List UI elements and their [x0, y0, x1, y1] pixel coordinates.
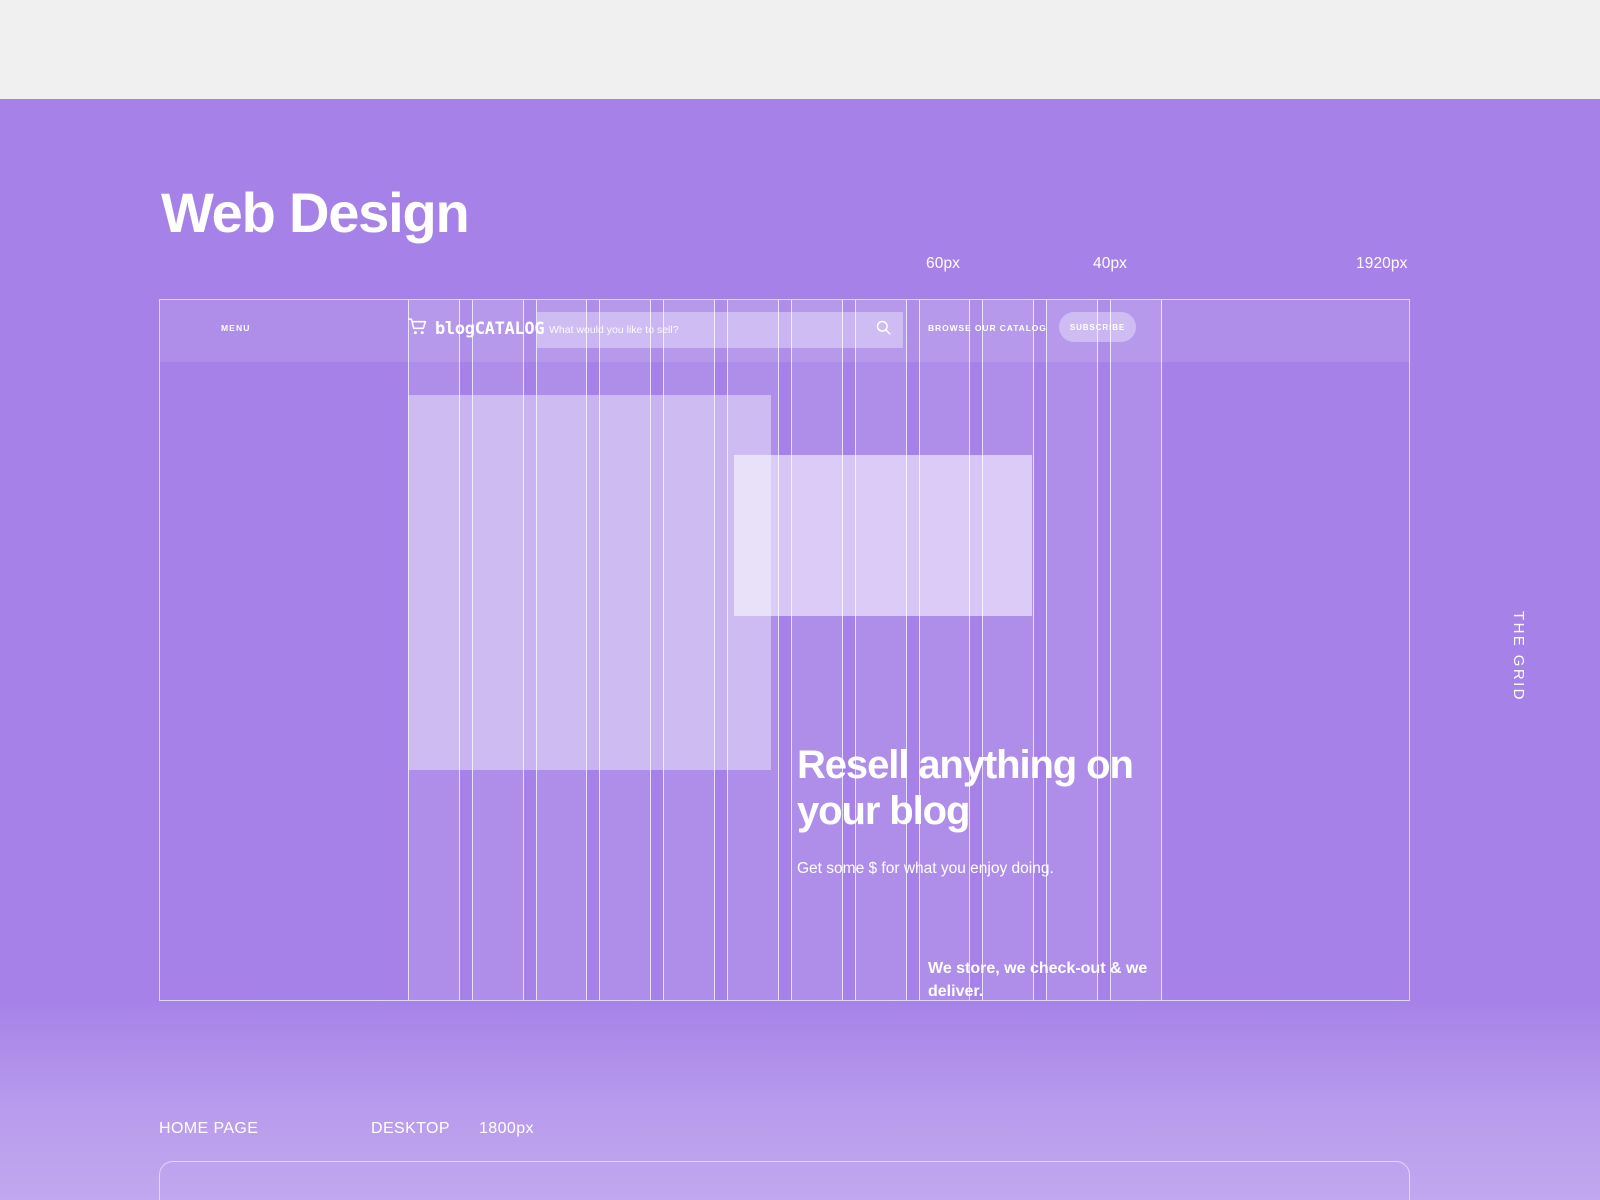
hero-note: We store, we check-out & we deliver.	[928, 958, 1158, 1001]
purple-canvas: Web Design 60px 40px 1920px THE GRID	[0, 99, 1600, 1200]
grid-gutter	[587, 300, 599, 1001]
grid-gutter	[460, 300, 472, 1001]
search-icon[interactable]	[876, 320, 891, 340]
artboard-frame: MENU blogCATALOG What would you like to …	[159, 299, 1410, 1001]
grid-column	[599, 300, 651, 1001]
footer-page-name: HOME PAGE	[159, 1120, 371, 1138]
grid-column	[536, 300, 588, 1001]
footer-meta: HOME PAGE DESKTOP 1800px	[159, 1120, 534, 1138]
grid-column	[855, 300, 907, 1001]
shopping-cart-icon	[408, 318, 428, 340]
hero-headline: Resell anything on your blog	[797, 742, 1157, 835]
search-placeholder: What would you like to sell?	[549, 324, 876, 336]
footer-device: DESKTOP	[371, 1120, 479, 1138]
grid-gutter	[715, 300, 727, 1001]
subscribe-button-label: SUBSCRIBE	[1070, 323, 1125, 332]
grid-gutter	[907, 300, 919, 1001]
grid-gutter	[1034, 300, 1046, 1001]
measure-label-canvas-width: 1920px	[1356, 255, 1407, 273]
next-artboard-card	[159, 1161, 1410, 1200]
grid-column	[663, 300, 715, 1001]
grid-column	[791, 300, 843, 1001]
subscribe-button[interactable]: SUBSCRIBE	[1059, 312, 1136, 342]
measure-label-outer-gutter: 60px	[926, 255, 960, 273]
presentation-stage: Web Design 60px 40px 1920px THE GRID	[0, 0, 1600, 1200]
grid-gutter	[843, 300, 855, 1001]
grid-column	[1046, 300, 1098, 1001]
grid-column	[919, 300, 971, 1001]
grid-gutter	[1098, 300, 1110, 1001]
site-logo[interactable]: blogCATALOG	[408, 318, 544, 340]
grid-column	[1110, 300, 1162, 1001]
search-input[interactable]: What would you like to sell?	[537, 312, 903, 348]
grid-gutter	[779, 300, 791, 1001]
footer-width: 1800px	[479, 1120, 534, 1138]
nav-browse-catalog-link[interactable]: BROWSE OUR CATALOG	[928, 323, 1047, 333]
logo-text: blogCATALOG	[435, 319, 544, 339]
grid-column	[982, 300, 1034, 1001]
grid-gutter	[970, 300, 982, 1001]
grid-column	[472, 300, 524, 1001]
hero-subtext: Get some $ for what you enjoy doing.	[797, 860, 1054, 878]
grid-column	[408, 300, 460, 1001]
grid-column-overlay	[408, 300, 1162, 1001]
grid-column	[727, 300, 779, 1001]
the-grid-side-label: THE GRID	[1510, 611, 1527, 702]
grid-gutter	[524, 300, 536, 1001]
page-title: Web Design	[161, 185, 468, 241]
measure-label-inner-gutter: 40px	[1093, 255, 1127, 273]
nav-menu-button[interactable]: MENU	[221, 323, 250, 333]
top-light-band	[0, 0, 1600, 99]
grid-gutter	[651, 300, 663, 1001]
